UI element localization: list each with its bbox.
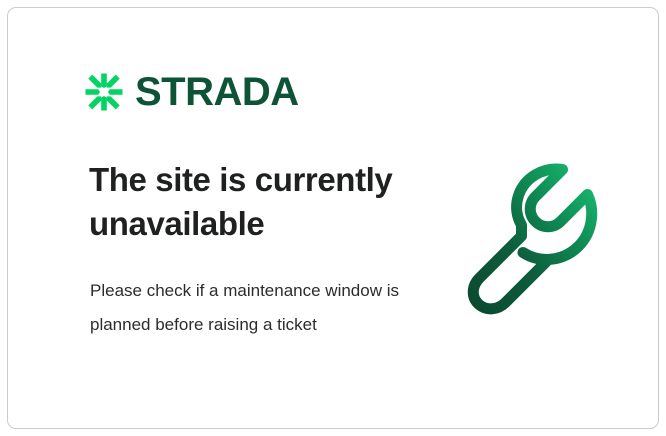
status-card: STRADA The site is currently unavailable… (7, 7, 659, 429)
brand-wordmark: STRADA (135, 72, 299, 112)
wrench-icon (463, 156, 623, 318)
page-title: The site is currently unavailable (89, 158, 429, 246)
wrench-illustration (463, 156, 623, 318)
brand-logo: STRADA (84, 72, 299, 112)
asterisk-star-icon (84, 72, 124, 112)
maintenance-page: STRADA The site is currently unavailable… (0, 0, 666, 436)
page-description: Please check if a maintenance window is … (90, 274, 400, 342)
